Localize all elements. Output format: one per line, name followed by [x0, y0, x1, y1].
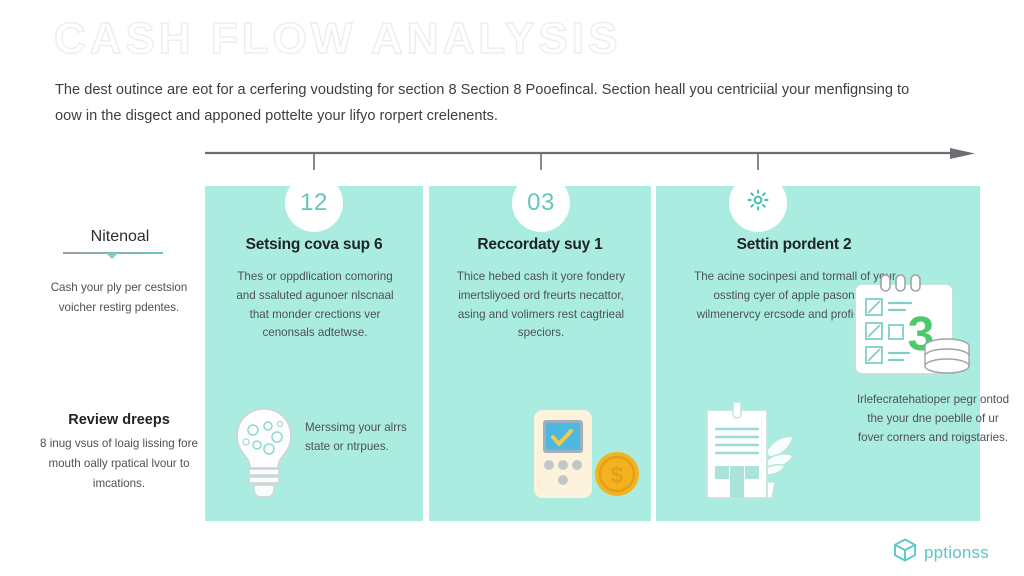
sidebar-body-1: Cash your ply per cestsion voicher resti… [44, 278, 194, 318]
sidebar-heading-notch-icon [106, 253, 118, 259]
page-subtitle: The dest outince are eot for a cerfering… [55, 78, 935, 129]
svg-text:$: $ [611, 462, 624, 488]
page-title: CASH FLOW ANALYSIS [54, 14, 621, 64]
step-badge-1[interactable]: 12 [288, 177, 340, 229]
step-heading-1: Setsing cova sup 6 [210, 236, 418, 254]
step-heading-2: Reccordaty suy 1 [434, 236, 646, 254]
step-body-1: Thes or oppdlication comoring and ssalut… [232, 268, 398, 343]
lightbulb-icon [228, 404, 300, 509]
step-heading-3: Settin pordent 2 [661, 236, 927, 254]
sidebar-body-2: 8 inug vsus of loaig lissing fore mouth … [40, 434, 198, 494]
timeline-arrow [205, 148, 975, 170]
step-badge-3[interactable] [732, 177, 784, 229]
step-caption-3: Irlefecratehatioper pegr ontod the your … [856, 391, 1010, 447]
slide-canvas: CASH FLOW ANALYSIS The dest outince are … [0, 0, 1024, 576]
clipboard-checklist-icon: 3 [849, 272, 979, 385]
brand-logo[interactable]: pptionss [893, 537, 989, 568]
sidebar-heading-2: Review dreeps [44, 412, 194, 428]
document-plant-icon [697, 396, 815, 507]
calculator-coin-icon: $ [532, 408, 642, 509]
step-body-2: Thice hebed cash it yore fondery imertsl… [456, 268, 626, 343]
step-caption-1: Merssimg your alrrs state or ntrpues. [305, 419, 409, 457]
cube-icon [893, 537, 917, 568]
sidebar-heading-1: Nitenoal [55, 228, 185, 246]
brand-name: pptionss [924, 543, 989, 563]
step-badge-2[interactable]: 03 [515, 177, 567, 229]
timeline-arrow-svg [205, 148, 975, 170]
gear-icon [746, 188, 770, 219]
